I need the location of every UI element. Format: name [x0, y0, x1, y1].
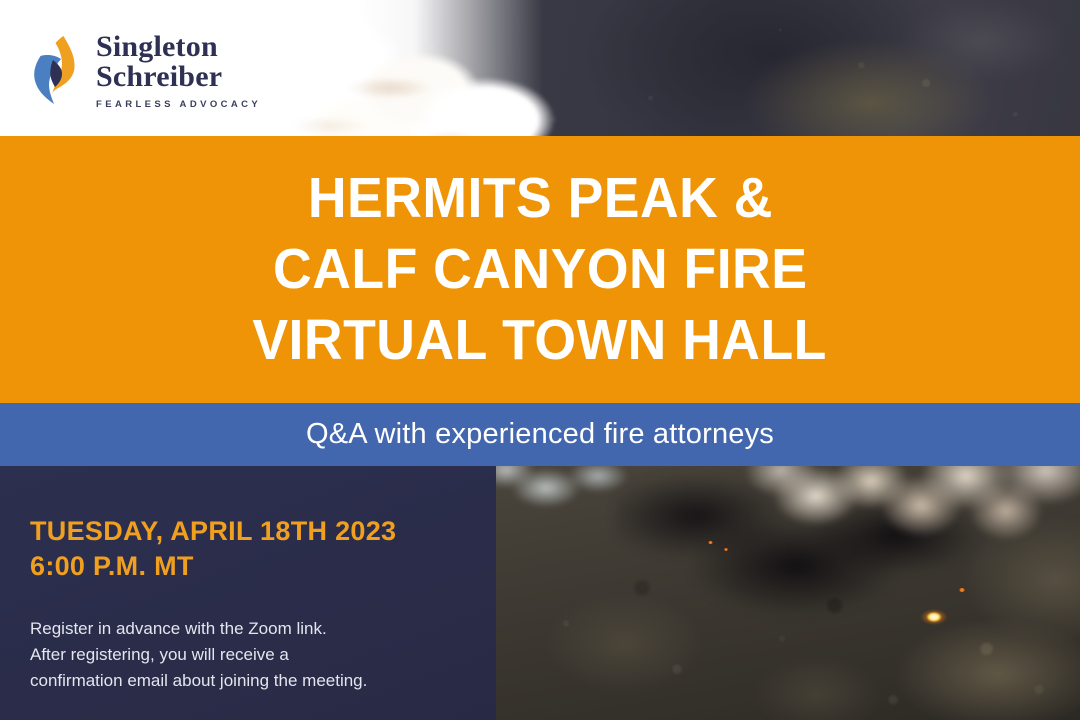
- subtitle-text: Q&A with experienced fire attorneys: [306, 418, 774, 451]
- footer-section: TUESDAY, APRIL 18TH 2023 6:00 P.M. MT Re…: [0, 466, 1080, 720]
- event-flyer: Singleton Schreiber FEARLESS ADVOCACY HE…: [0, 0, 1080, 720]
- brand-name-line1: Singleton: [96, 32, 261, 62]
- event-date: TUESDAY, APRIL 18TH 2023: [30, 514, 396, 549]
- pale-smoke-layer: [496, 466, 666, 538]
- brand-wordmark: Singleton Schreiber FEARLESS ADVOCACY: [96, 30, 261, 110]
- registration-note-line-3: confirmation email about joining the mee…: [30, 668, 480, 694]
- brand-tagline: FEARLESS ADVOCACY: [96, 99, 261, 110]
- wildfire-photo: [496, 466, 1080, 720]
- registration-note: Register in advance with the Zoom link. …: [30, 616, 480, 694]
- fire-ember: [959, 588, 965, 592]
- brand-logo[interactable]: Singleton Schreiber FEARLESS ADVOCACY: [30, 30, 261, 110]
- event-info-panel: TUESDAY, APRIL 18TH 2023 6:00 P.M. MT Re…: [0, 466, 496, 720]
- registration-note-line-2: After registering, you will receive a: [30, 642, 480, 668]
- event-time: 6:00 P.M. MT: [30, 549, 194, 584]
- flame-icon: [30, 34, 82, 106]
- title-band: HERMITS PEAK & CALF CANYON FIRE VIRTUAL …: [0, 136, 1080, 403]
- smoke-tint-layer: [270, 40, 600, 136]
- header-banner: Singleton Schreiber FEARLESS ADVOCACY: [0, 0, 1080, 136]
- fire-hotspot: [916, 604, 954, 630]
- title-line-2: CALF CANYON FIRE: [273, 234, 807, 305]
- subtitle-band: Q&A with experienced fire attorneys: [0, 403, 1080, 466]
- title-line-3: VIRTUAL TOWN HALL: [253, 305, 828, 376]
- brand-name-line2: Schreiber: [96, 62, 261, 92]
- title-line-1: HERMITS PEAK &: [307, 163, 772, 234]
- hero-smoke-photo: [270, 0, 1080, 136]
- registration-note-line-1: Register in advance with the Zoom link.: [30, 616, 480, 642]
- fire-ember: [708, 541, 713, 544]
- smoke-plume-layer: [696, 466, 1080, 586]
- fire-ember: [724, 548, 728, 551]
